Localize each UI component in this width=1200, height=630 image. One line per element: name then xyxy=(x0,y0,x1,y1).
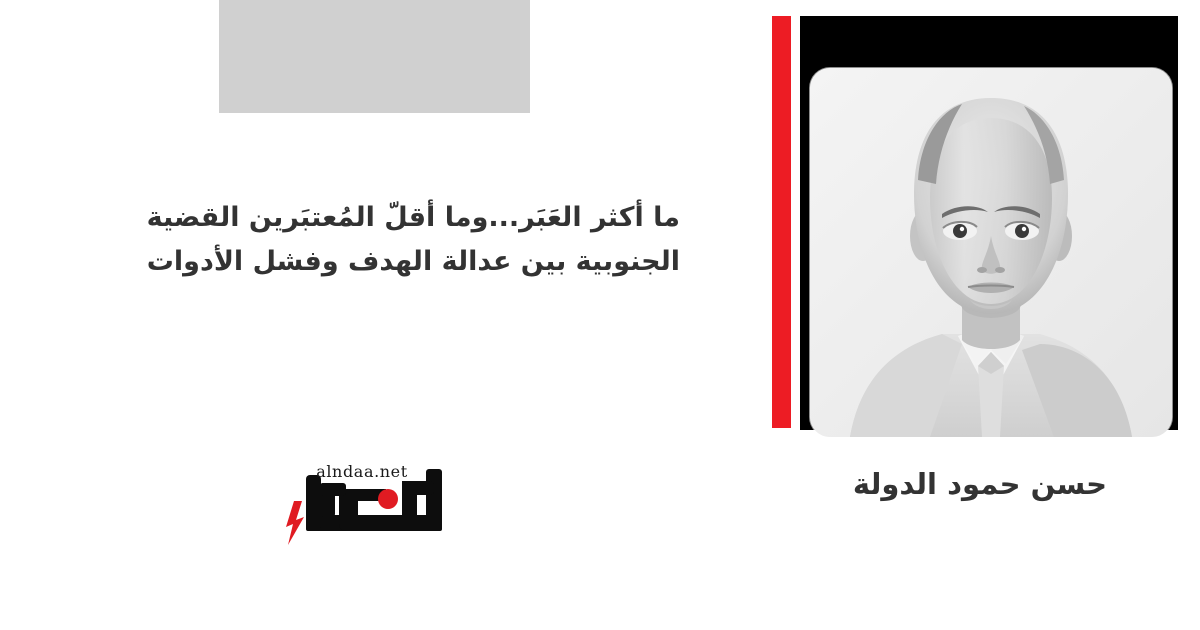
avatar xyxy=(810,68,1172,437)
portrait-photograph xyxy=(810,68,1172,437)
image-placeholder xyxy=(219,0,530,113)
logo-site-name: alndaa.net xyxy=(316,462,408,481)
portrait-composition xyxy=(760,0,1200,450)
red-accent-bar xyxy=(772,16,791,428)
headline-column: ما أكثر العَبَر...وما أقلّ المُعتبَرين ا… xyxy=(60,196,680,376)
logo-mark: alndaa.net xyxy=(276,455,446,555)
site-logo[interactable]: alndaa.net xyxy=(276,455,446,555)
page-title: ما أكثر العَبَر...وما أقلّ المُعتبَرين ا… xyxy=(120,196,680,283)
author-name: حسن حمود الدولة xyxy=(790,466,1170,504)
article-share-card: ما أكثر العَبَر...وما أقلّ المُعتبَرين ا… xyxy=(0,0,1200,630)
lightning-bolt-icon xyxy=(286,501,304,545)
logo-dot-icon xyxy=(378,489,398,509)
